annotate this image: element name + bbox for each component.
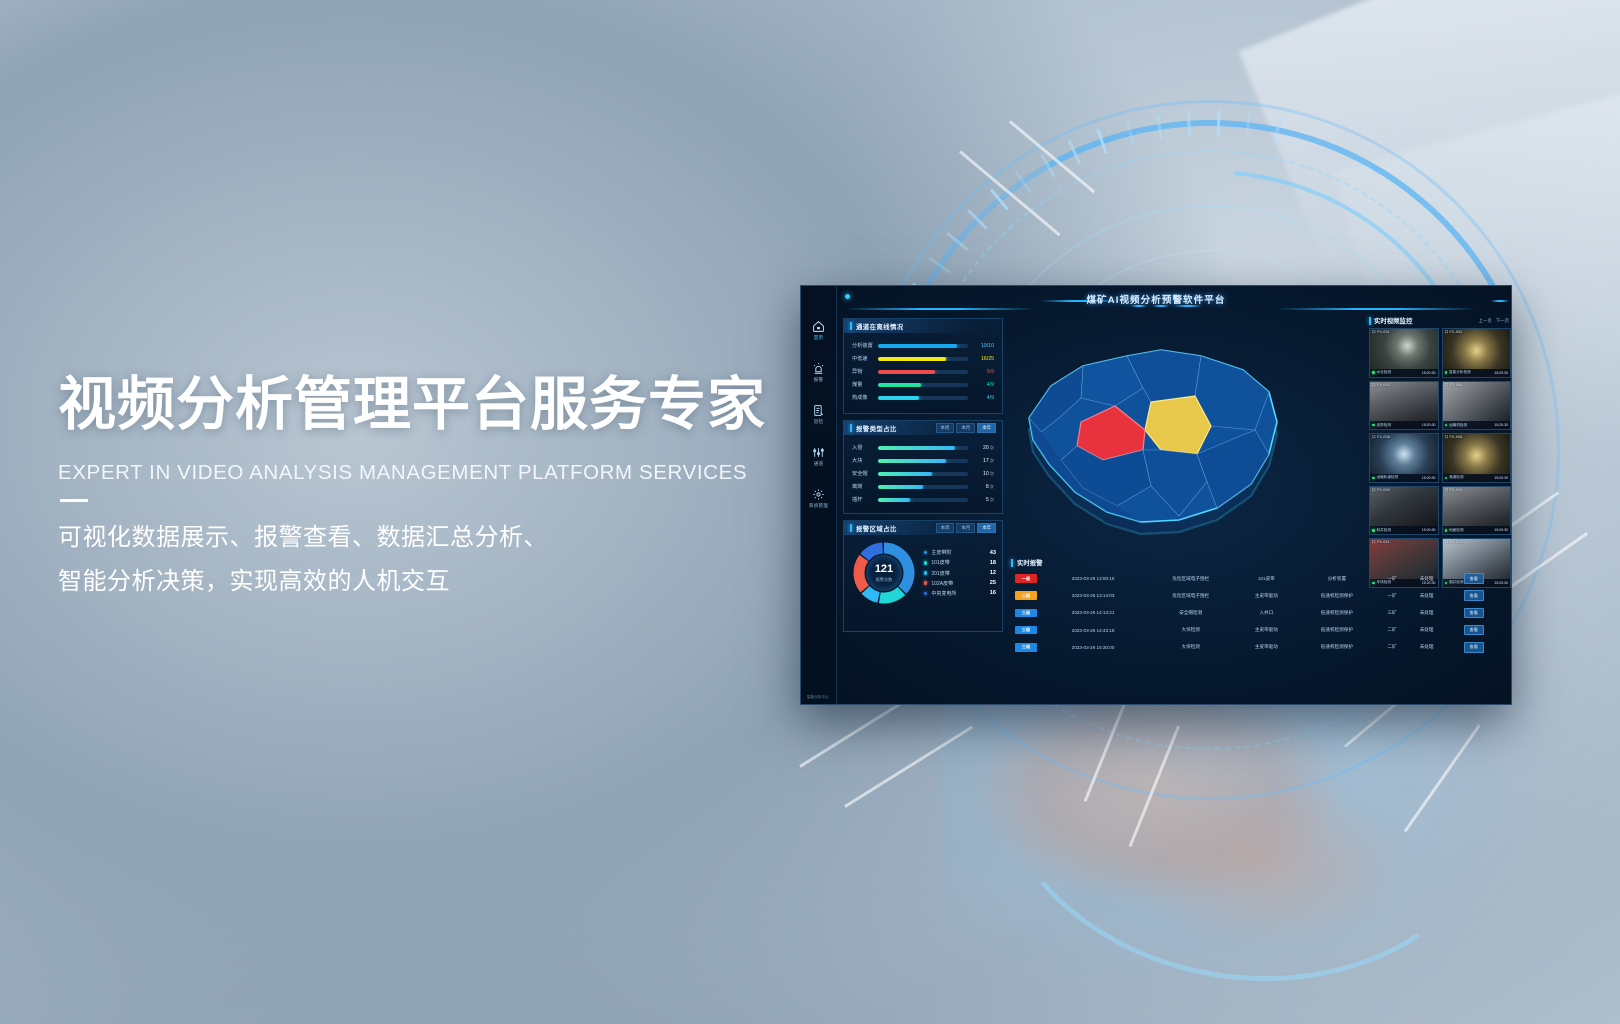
tab-alarm-area-本周[interactable]: 本周 <box>936 523 955 533</box>
legend-label: 中央变电所 <box>931 590 989 597</box>
view-alarm-button[interactable]: 查看 <box>1464 608 1484 619</box>
video-tile[interactable]: 口 FX-009斜井检测15:20:30 <box>1369 486 1439 536</box>
alarm-type-row: 入侵20次 <box>852 441 994 454</box>
alarm-type-progress-track <box>878 446 968 450</box>
video-timestamp: 15:20:30 <box>1494 476 1508 480</box>
tab-alarm-type-本周[interactable]: 本周 <box>936 423 955 433</box>
panel-channel-header: 通道在离线情况 <box>844 319 1002 333</box>
title-accent-bar <box>1011 559 1013 567</box>
video-tile-label: 皮带检测 <box>1377 423 1391 428</box>
legend-color-dot <box>924 551 927 554</box>
tab-alarm-area-本年[interactable]: 本年 <box>977 523 996 533</box>
channel-name: 煤量 <box>852 381 878 388</box>
channel-value: 4/9 <box>968 395 994 401</box>
video-tile-label: 地面检测 <box>1449 528 1463 533</box>
alarm-type-progress-fill <box>878 498 910 502</box>
alarm-type-progress-track <box>878 472 968 476</box>
channel-status-list: 分析装置10/10中低速16/25异物5/9煤量4/9热成像4/9 <box>844 333 1002 408</box>
alarm-mine: 一矿 <box>1377 587 1406 604</box>
channel-progress-fill <box>878 344 957 348</box>
page-title: 视频分析管理平台服务专家 <box>58 372 818 439</box>
video-tile[interactable]: 口 FX-010地面检测15:20:30 <box>1442 486 1512 536</box>
legend-color-dot <box>924 581 927 584</box>
alarm-area: 主皮带驱动 <box>1236 587 1296 604</box>
video-camera-id: 口 FX-011 <box>1372 540 1390 545</box>
channel-status-row: 分析装置10/10 <box>852 339 994 352</box>
tab-alarm-type-本月[interactable]: 本月 <box>956 423 975 433</box>
alarm-mine: 三矿 <box>1377 604 1406 621</box>
video-camera-id: 口 FX-002 <box>1445 330 1463 335</box>
video-tile[interactable]: 口 FX-003皮带检测15:20:30 <box>1369 381 1439 431</box>
sidebar-item-inspection-label: 巡检 <box>814 419 824 425</box>
video-panel-header: 实时视频监控 上一页 下一页 <box>1369 316 1509 325</box>
alarm-type-row: 大块17次 <box>852 454 994 467</box>
map-svg <box>1011 320 1291 550</box>
alarm-icon <box>812 362 825 375</box>
alarm-time: 2023-03-26 14:43:18 <box>1041 621 1145 638</box>
settings-icon <box>812 488 825 501</box>
legend-label: 主皮带附 <box>931 549 989 556</box>
alarm-type-progress-track <box>878 459 968 463</box>
donut-legend-row: 中央变电所16 <box>924 588 996 598</box>
view-alarm-button[interactable]: 查看 <box>1464 573 1484 584</box>
panel-alarm-type-header: 报警类型占比 本周本月本年 <box>844 421 1002 435</box>
status-led <box>1372 424 1375 427</box>
channel-value: 4/9 <box>968 382 994 388</box>
sidebar-item-channel[interactable]: 通道 <box>801 446 836 467</box>
video-tile-label: 智能分析检测 <box>1449 370 1471 375</box>
status-led <box>1372 371 1375 374</box>
alarm-table: 一级2023-03-26 13:00:16危险区域电子围栏101皮带分析装置一矿… <box>1011 570 1501 656</box>
channel-progress-track <box>878 396 968 400</box>
alarm-type-value: 5次 <box>968 497 994 503</box>
channel-progress-fill <box>878 357 946 361</box>
table-row[interactable]: 二级2023-03-26 13:14:03危险区域电子围栏主皮带驱动低速机检测保… <box>1011 587 1501 604</box>
video-camera-id: 口 FX-008 <box>1445 435 1463 440</box>
video-tile-label: 水仓检测 <box>1377 370 1391 375</box>
alarm-type-progress-fill <box>878 485 923 489</box>
status-led <box>1445 529 1448 532</box>
legend-label: 101皮带 <box>931 559 989 566</box>
sidebar-nav: 首页 报警 巡检 通道 <box>801 286 837 704</box>
video-next-page-button[interactable]: 下一页 <box>1496 318 1509 324</box>
home-icon <box>812 320 825 333</box>
channel-status-row: 热成像4/9 <box>852 391 994 404</box>
alarm-area-chart: 121 报警次数 主皮带附43101皮带18201皮带12102A皮带25中央变… <box>844 535 1002 609</box>
video-tile-label: 运输机检测 <box>1449 423 1467 428</box>
status-led <box>1372 477 1375 480</box>
panel-alarm-area-title: 报警区域占比 <box>856 524 897 533</box>
alarm-table-panel: 实时报警 一级2023-03-26 13:00:16危险区域电子围栏101皮带分… <box>1011 558 1501 698</box>
alarm-area: 主皮带驱动 <box>1236 621 1296 638</box>
corner-tag: 智能分析中心 <box>807 695 829 700</box>
sidebar-item-alarm[interactable]: 报警 <box>801 362 836 383</box>
tab-alarm-area-本月[interactable]: 本月 <box>956 523 975 533</box>
channel-progress-fill <box>878 396 919 400</box>
alarm-type: 大块检测 <box>1145 639 1236 656</box>
video-tile[interactable]: 口 FX-004运输机检测15:20:30 <box>1442 381 1512 431</box>
alarm-type-name: 大块 <box>852 457 878 464</box>
alarm-time: 2023-03-26 13:00:16 <box>1041 570 1145 587</box>
video-prev-page-button[interactable]: 上一页 <box>1479 318 1492 324</box>
alarm-type-value: 8次 <box>968 484 994 490</box>
province-map[interactable] <box>1011 320 1291 550</box>
sidebar-item-settings-label: 系统管理 <box>809 503 828 509</box>
channel-status-row: 中低速16/25 <box>852 352 994 365</box>
table-row[interactable]: 三级2023-03-26 14:13:21安全帽检测入井口低速机检测保护三矿未处… <box>1011 604 1501 621</box>
hero-description-line-2: 智能分析决策，实现高效的人机交互 <box>58 560 818 604</box>
alarm-type-name: 插杆 <box>852 496 878 503</box>
donut-center: 121 报警次数 <box>866 555 902 591</box>
title-accent-bar <box>850 322 852 330</box>
panel-alarm-area: 报警区域占比 本周本月本年 121 报警次数 主皮带附43101皮带18201皮… <box>843 520 1003 632</box>
alarm-type-progress-fill <box>878 446 955 450</box>
dashboard-app: 煤矿AI视频分析预警软件平台 首页 报警 巡检 <box>801 286 1511 704</box>
panel-alarm-type: 报警类型占比 本周本月本年 入侵20次大块17次安全帽10次离岗8次插杆5次 <box>843 420 1003 514</box>
video-tile[interactable]: 口 FX-001水仓检测15:20:30 <box>1369 328 1439 378</box>
channel-progress-track <box>878 357 968 361</box>
alarm-area: 主皮带驱动 <box>1236 639 1296 656</box>
channel-progress-track <box>878 344 968 348</box>
video-panel-title: 实时视频监控 <box>1374 316 1412 325</box>
alarm-mine: 二矿 <box>1377 639 1406 656</box>
donut-center-value: 121 <box>875 564 893 575</box>
header-line <box>1276 308 1476 310</box>
alarm-area-period-tabs[interactable]: 本周本月本年 <box>936 523 996 533</box>
channel-progress-track <box>878 370 968 374</box>
panel-alarm-type-title: 报警类型占比 <box>856 424 897 433</box>
alarm-status: 未处理 <box>1407 587 1447 604</box>
alarm-device: 低速机检测保护 <box>1296 604 1377 621</box>
sidebar-item-alarm-label: 报警 <box>814 377 824 383</box>
video-timestamp: 15:20:30 <box>1494 528 1508 532</box>
alarm-level-badge: 一级 <box>1015 574 1037 583</box>
alarm-level-badge: 二级 <box>1015 591 1037 600</box>
alarm-type-progress-track <box>878 498 968 502</box>
alarm-type: 安全帽检测 <box>1145 604 1236 621</box>
tab-alarm-type-本年[interactable]: 本年 <box>977 423 996 433</box>
alarm-device: 低速机检测保护 <box>1296 621 1377 638</box>
alarm-level-badge: 三级 <box>1015 626 1037 635</box>
alarm-type-list: 入侵20次大块17次安全帽10次离岗8次插杆5次 <box>844 435 1002 510</box>
legend-value: 25 <box>990 580 996 586</box>
status-led <box>1445 424 1448 427</box>
channel-value: 16/25 <box>968 356 994 362</box>
alarm-device: 低速机检测保护 <box>1296 587 1377 604</box>
alarm-type-name: 安全帽 <box>852 470 878 477</box>
donut-legend: 主皮带附43101皮带18201皮带12102A皮带25中央变电所16 <box>924 548 996 599</box>
donut-chart: 121 报警次数 <box>852 541 916 605</box>
video-timestamp: 15:20:30 <box>1422 371 1436 375</box>
sidebar-item-settings[interactable]: 系统管理 <box>801 488 836 509</box>
table-row[interactable]: 一级2023-03-26 13:00:16危险区域电子围栏101皮带分析装置一矿… <box>1011 570 1501 587</box>
legend-value: 12 <box>990 570 996 576</box>
alarm-device: 低速机检测保护 <box>1296 639 1377 656</box>
donut-segment-101皮带[interactable] <box>880 591 902 598</box>
video-timestamp: 15:20:30 <box>1494 423 1508 427</box>
sidebar-item-channel-label: 通道 <box>814 461 824 467</box>
alarm-time: 2023-03-26 13:14:03 <box>1041 587 1145 604</box>
legend-color-dot <box>924 561 927 564</box>
divider <box>60 499 88 502</box>
legend-value: 18 <box>990 560 996 566</box>
panel-channel-title: 通道在离线情况 <box>856 322 904 331</box>
channel-status-row: 煤量4/9 <box>852 378 994 391</box>
alarm-type-name: 入侵 <box>852 444 878 451</box>
dashboard-screenshot: 煤矿AI视频分析预警软件平台 首页 报警 巡检 <box>800 285 1512 705</box>
video-camera-id: 口 FX-010 <box>1445 488 1463 493</box>
donut-center-caption: 报警次数 <box>876 577 893 583</box>
alarm-status: 未处理 <box>1407 639 1447 656</box>
legend-label: 201皮带 <box>931 570 989 577</box>
status-led <box>1445 371 1448 374</box>
alarm-area: 101皮带 <box>1236 570 1296 587</box>
legend-label: 102A皮带 <box>931 580 989 587</box>
alarm-time: 2023-03-26 15:30:00 <box>1041 639 1145 656</box>
channel-value: 10/10 <box>968 343 994 349</box>
video-camera-id: 口 FX-001 <box>1372 330 1390 335</box>
alarm-type-row: 安全帽10次 <box>852 467 994 480</box>
video-tile[interactable]: 口 FX-006运输轨道检测15:20:30 <box>1369 433 1439 483</box>
view-alarm-button[interactable]: 查看 <box>1464 590 1484 601</box>
video-camera-id: 口 FX-003 <box>1372 383 1390 388</box>
dashboard-title: 煤矿AI视频分析预警软件平台 <box>801 292 1511 306</box>
dashboard-header: 煤矿AI视频分析预警软件平台 <box>801 286 1511 314</box>
video-grid: 口 FX-001水仓检测15:20:30口 FX-002智能分析检测15:20:… <box>1369 328 1511 588</box>
sidebar-item-inspection[interactable]: 巡检 <box>801 404 836 425</box>
table-row[interactable]: 三级2023-03-26 14:43:18大块检测主皮带驱动低速机检测保护二矿未… <box>1011 621 1501 638</box>
legend-value: 16 <box>990 590 996 596</box>
title-accent-bar <box>850 424 852 432</box>
donut-legend-row: 主皮带附43 <box>924 548 996 558</box>
view-alarm-button[interactable]: 查看 <box>1464 642 1484 653</box>
video-tile-label: 斜井检测 <box>1377 528 1391 533</box>
channel-name: 热成像 <box>852 394 878 401</box>
sidebar-item-home[interactable]: 首页 <box>801 320 836 341</box>
sidebar-item-home-label: 首页 <box>814 335 824 341</box>
channel-name: 异物 <box>852 368 878 375</box>
alarm-type-value: 20次 <box>968 445 994 451</box>
channel-progress-fill <box>878 370 935 374</box>
video-camera-id: 口 FX-004 <box>1445 383 1463 388</box>
video-tile[interactable]: 口 FX-002智能分析检测15:20:30 <box>1442 328 1512 378</box>
alarm-status: 未处理 <box>1407 570 1447 587</box>
title-accent-bar <box>1369 317 1371 325</box>
hero-subtitle: EXPERT IN VIDEO ANALYSIS MANAGEMENT PLAT… <box>58 461 818 485</box>
video-timestamp: 15:20:30 <box>1422 476 1436 480</box>
alarm-mine: 二矿 <box>1377 621 1406 638</box>
status-led <box>1445 477 1448 480</box>
alarm-type-progress-fill <box>878 472 932 476</box>
channel-icon <box>812 446 825 459</box>
donut-segment-201皮带[interactable] <box>866 590 879 598</box>
donut-legend-row: 101皮带18 <box>924 558 996 568</box>
alarm-table-title: 实时报警 <box>1017 558 1043 567</box>
video-camera-id: 口 FX-012 <box>1445 540 1463 545</box>
video-tile-label: 巷道检测 <box>1449 475 1463 480</box>
hero-copy: 视频分析管理平台服务专家 EXPERT IN VIDEO ANALYSIS MA… <box>58 372 818 604</box>
alarm-type-row: 离岗8次 <box>852 480 994 493</box>
alarm-type-value: 17次 <box>968 458 994 464</box>
alarm-type-progress-fill <box>878 459 946 463</box>
alarm-level-badge: 三级 <box>1015 609 1037 618</box>
channel-value: 5/9 <box>968 369 994 375</box>
alarm-type-progress-track <box>878 485 968 489</box>
alarm-mine: 一矿 <box>1377 570 1406 587</box>
header-line <box>845 308 1035 310</box>
legend-color-dot <box>924 571 927 574</box>
alarm-device: 分析装置 <box>1296 570 1377 587</box>
panel-alarm-area-header: 报警区域占比 本周本月本年 <box>844 521 1002 535</box>
alarm-area: 入井口 <box>1236 604 1296 621</box>
inspection-icon <box>812 404 825 417</box>
alarm-type-name: 离岗 <box>852 483 878 490</box>
alarm-type-row: 插杆5次 <box>852 493 994 506</box>
view-alarm-button[interactable]: 查看 <box>1464 625 1484 636</box>
table-row[interactable]: 三级2023-03-26 15:30:00大块检测主皮带驱动低速机检测保护二矿未… <box>1011 639 1501 656</box>
legend-color-dot <box>924 592 927 595</box>
channel-name: 中低速 <box>852 355 878 362</box>
donut-legend-row: 102A皮带25 <box>924 578 996 588</box>
video-timestamp: 15:20:30 <box>1494 371 1508 375</box>
video-camera-id: 口 FX-009 <box>1372 488 1390 493</box>
alarm-type: 大块检测 <box>1145 621 1236 638</box>
title-accent-bar <box>850 524 852 532</box>
channel-progress-track <box>878 383 968 387</box>
alarm-status: 未处理 <box>1407 621 1447 638</box>
legend-value: 43 <box>990 550 996 556</box>
video-timestamp: 15:20:30 <box>1422 423 1436 427</box>
channel-progress-fill <box>878 383 921 387</box>
video-tile[interactable]: 口 FX-008巷道检测15:20:30 <box>1442 433 1512 483</box>
donut-segment-102A皮带[interactable] <box>859 558 865 589</box>
alarm-type-period-tabs[interactable]: 本周本月本年 <box>936 423 996 433</box>
status-led <box>1372 529 1375 532</box>
alarm-type: 危险区域电子围栏 <box>1145 587 1236 604</box>
alarm-type-value: 10次 <box>968 471 994 477</box>
donut-legend-row: 201皮带12 <box>924 568 996 578</box>
video-camera-id: 口 FX-006 <box>1372 435 1390 440</box>
panel-channel-status: 通道在离线情况 分析装置10/10中低速16/25异物5/9煤量4/9热成像4/… <box>843 318 1003 414</box>
alarm-status: 未处理 <box>1407 604 1447 621</box>
alarm-table-header: 实时报警 <box>1011 558 1501 567</box>
channel-status-row: 异物5/9 <box>852 365 994 378</box>
alarm-type: 危险区域电子围栏 <box>1145 570 1236 587</box>
channel-name: 分析装置 <box>852 342 878 349</box>
alarm-time: 2023-03-26 14:13:21 <box>1041 604 1145 621</box>
alarm-level-badge: 三级 <box>1015 643 1037 652</box>
hero-description-line-1: 可视化数据展示、报警查看、数据汇总分析、 <box>58 516 818 560</box>
video-timestamp: 15:20:30 <box>1422 528 1436 532</box>
video-tile-label: 运输轨道检测 <box>1377 475 1399 480</box>
